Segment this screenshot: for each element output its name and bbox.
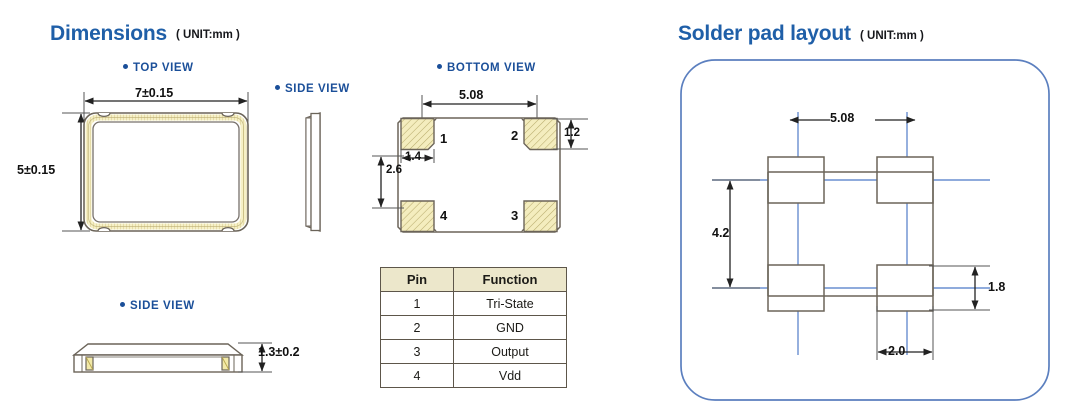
table-header-function: Function <box>454 268 567 292</box>
dim-solder-pad-width: 2.0 <box>888 344 905 358</box>
side-view-right-drawing <box>306 113 320 231</box>
top-view-drawing <box>62 92 248 231</box>
dim-solder-pitch-y: 4.2 <box>712 226 729 240</box>
bottom-view-drawing <box>372 95 588 232</box>
table-header-row: Pin Function <box>381 268 567 292</box>
dim-top-height: 5±0.15 <box>17 163 55 177</box>
cell-function: GND <box>454 316 567 340</box>
dim-solder-pad-height: 1.8 <box>988 280 1005 294</box>
dim-top-width: 7±0.15 <box>135 86 173 100</box>
dim-thickness: 1.3±0.2 <box>258 345 300 359</box>
cell-function: Vdd <box>454 364 567 388</box>
cell-pin: 2 <box>381 316 454 340</box>
technical-drawing-page: Dimensions ( UNIT:mm ) Solder pad layout… <box>0 0 1080 420</box>
cell-pin: 4 <box>381 364 454 388</box>
dim-bottom-pad-width: 1.4 <box>405 151 421 163</box>
pad-number-1: 1 <box>440 131 447 146</box>
dim-bottom-pitch-x: 5.08 <box>459 88 483 102</box>
pin-function-table: Pin Function 1 Tri-State 2 GND 3 Output … <box>380 267 567 388</box>
table-row: 4 Vdd <box>381 364 567 388</box>
solder-pad-layout-drawing <box>681 60 1049 400</box>
table-row: 2 GND <box>381 316 567 340</box>
dim-solder-pitch-x: 5.08 <box>830 111 854 125</box>
pad-number-2: 2 <box>511 128 518 143</box>
pad-number-3: 3 <box>511 208 518 223</box>
pad-number-4: 4 <box>440 208 447 223</box>
side-view-bottom-drawing <box>74 343 272 372</box>
cell-function: Output <box>454 340 567 364</box>
table-header-pin: Pin <box>381 268 454 292</box>
dim-bottom-pad-height: 1.2 <box>564 127 580 139</box>
table-row: 3 Output <box>381 340 567 364</box>
cell-pin: 1 <box>381 292 454 316</box>
table-row: 1 Tri-State <box>381 292 567 316</box>
cell-pin: 3 <box>381 340 454 364</box>
cell-function: Tri-State <box>454 292 567 316</box>
dim-bottom-pitch-y: 2.6 <box>386 164 402 176</box>
